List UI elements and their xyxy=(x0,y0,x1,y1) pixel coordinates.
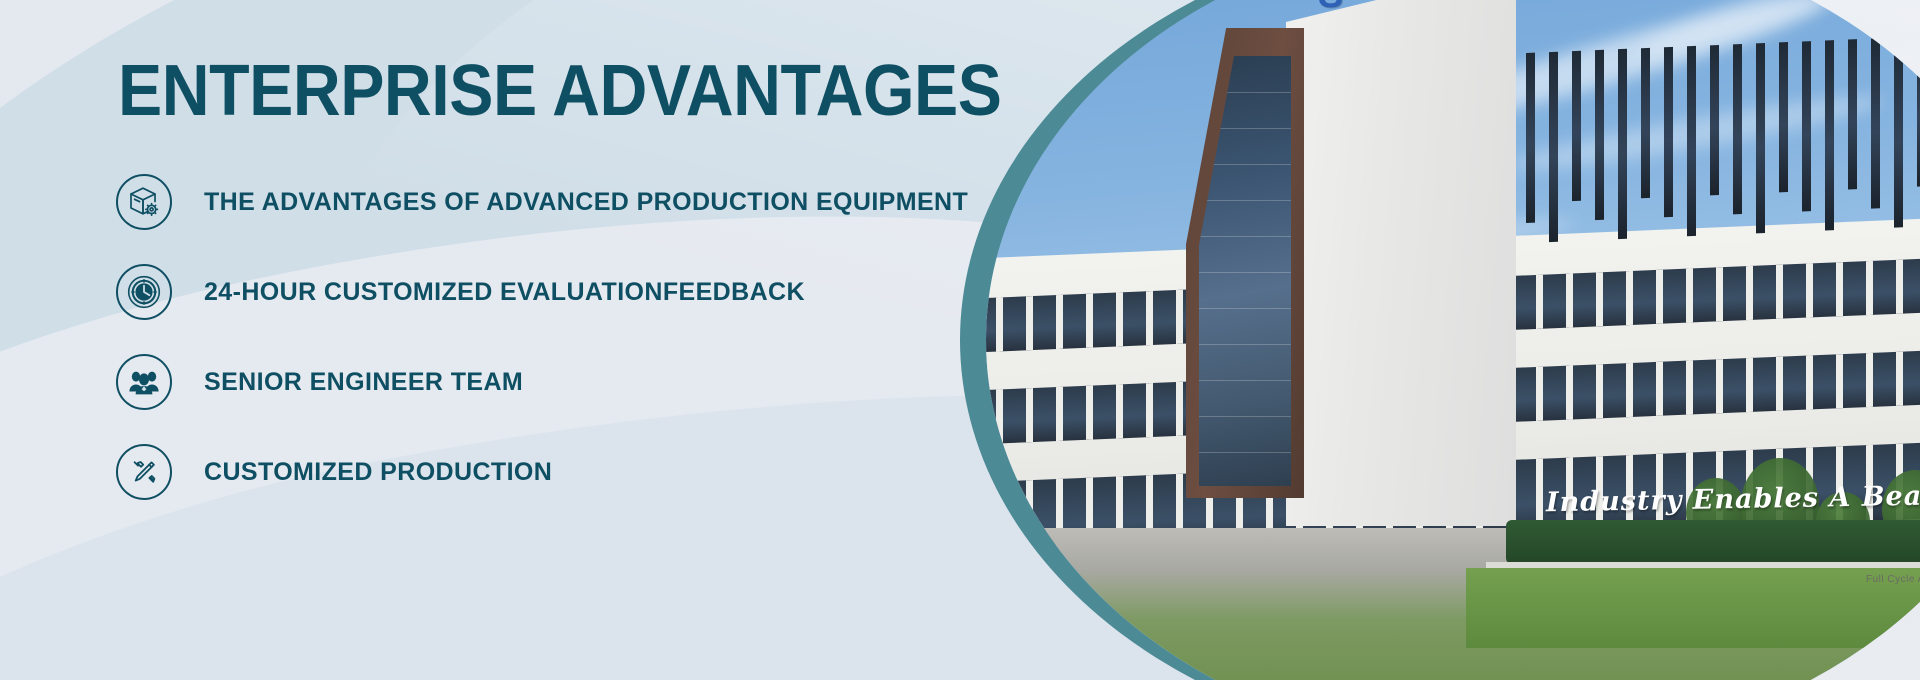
feature-list: THE ADVANTAGES OF ADVANCED PRODUCTION EQ… xyxy=(116,170,1016,530)
slot-window xyxy=(1848,39,1857,189)
building-logo: S xyxy=(1318,0,1348,14)
window-mullion xyxy=(1776,357,1783,411)
window-mullion xyxy=(1686,360,1693,414)
feature-label: 24-HOUR CUSTOMIZED EVALUATIONFEEDBACK xyxy=(204,278,805,307)
glass-seam xyxy=(1199,308,1291,309)
window-mullion xyxy=(1716,359,1723,413)
slot-window xyxy=(1572,51,1581,201)
slot-window xyxy=(1733,44,1742,214)
window-mullion xyxy=(1866,353,1873,407)
feature-label: CUSTOMIZED PRODUCTION xyxy=(204,458,552,487)
window-mullion xyxy=(1596,364,1603,418)
building-photo-disc: S Industry Enables A Bea Full Cycle A xyxy=(960,0,1920,680)
window-mullion xyxy=(1026,296,1033,350)
glass-seam xyxy=(1199,272,1291,273)
slot-window xyxy=(1549,52,1558,242)
slot-window xyxy=(1641,48,1650,198)
box-gear-icon xyxy=(116,174,172,230)
glass-seam xyxy=(1199,452,1291,453)
window-mullion xyxy=(1806,355,1813,409)
feature-label: THE ADVANTAGES OF ADVANCED PRODUCTION EQ… xyxy=(204,188,968,217)
clock-icon xyxy=(116,264,172,320)
glass-seam xyxy=(1199,236,1291,237)
window-mullion xyxy=(1056,295,1063,349)
slot-window xyxy=(1618,49,1627,239)
window-mullion xyxy=(1146,383,1153,437)
slot-window xyxy=(1687,46,1696,236)
glass-seam xyxy=(1199,200,1291,201)
slot-window xyxy=(1710,45,1719,195)
slot-window xyxy=(1526,53,1535,223)
window-mullion xyxy=(1746,358,1753,412)
feature-item-production-equipment[interactable]: THE ADVANTAGES OF ADVANCED PRODUCTION EQ… xyxy=(116,170,1016,234)
window-mullion xyxy=(1056,387,1063,441)
feature-item-customized-production[interactable]: CUSTOMIZED PRODUCTION xyxy=(116,440,1016,504)
window-mullion xyxy=(1656,362,1663,416)
feature-item-senior-engineer-team[interactable]: SENIOR ENGINEER TEAM xyxy=(116,350,1016,414)
glass-seam xyxy=(1199,416,1291,417)
glass-seam xyxy=(1199,344,1291,345)
slot-window xyxy=(1802,41,1811,211)
building-photo: S Industry Enables A Bea Full Cycle A xyxy=(986,0,1920,680)
window-mullion xyxy=(1116,292,1123,346)
feature-item-24-hour-feedback[interactable]: 24-HOUR CUSTOMIZED EVALUATIONFEEDBACK xyxy=(116,260,1016,324)
team-people-icon xyxy=(116,354,172,410)
ground-sign-subtext: Full Cycle A xyxy=(1866,574,1920,585)
hedge-row xyxy=(1506,520,1920,564)
window-mullion xyxy=(1086,386,1093,440)
window-mullion xyxy=(1896,352,1903,406)
window-mullion xyxy=(1566,365,1573,419)
slot-window xyxy=(1779,42,1788,192)
ground-sign-script: Industry Enables A Bea xyxy=(1546,481,1920,519)
window-mullion xyxy=(1026,388,1033,442)
slot-window xyxy=(1825,40,1834,230)
slot-window xyxy=(1871,38,1880,208)
glass-seam xyxy=(1199,380,1291,381)
window-mullion xyxy=(1176,290,1183,344)
lawn xyxy=(1466,568,1920,648)
slot-window xyxy=(1595,50,1604,220)
main-tower-facade xyxy=(1286,0,1516,526)
window-mullion xyxy=(1626,363,1633,417)
enterprise-advantages-banner: S Industry Enables A Bea Full Cycle A EN… xyxy=(0,0,1920,680)
page-title: ENTERPRISE ADVANTAGES xyxy=(118,55,1001,127)
feature-label: SENIOR ENGINEER TEAM xyxy=(204,368,523,397)
window-mullion xyxy=(1086,294,1093,348)
slot-window xyxy=(1756,43,1765,233)
slot-window xyxy=(1894,37,1903,227)
banner-content: ENTERPRISE ADVANTAGES xyxy=(0,0,1020,680)
window-mullion xyxy=(1836,354,1843,408)
window-mullion xyxy=(1176,382,1183,436)
slot-window xyxy=(1664,47,1673,217)
window-mullion xyxy=(1146,291,1153,345)
pencil-wrench-icon xyxy=(116,444,172,500)
window-mullion xyxy=(1536,367,1543,421)
window-mullion xyxy=(1116,384,1123,438)
